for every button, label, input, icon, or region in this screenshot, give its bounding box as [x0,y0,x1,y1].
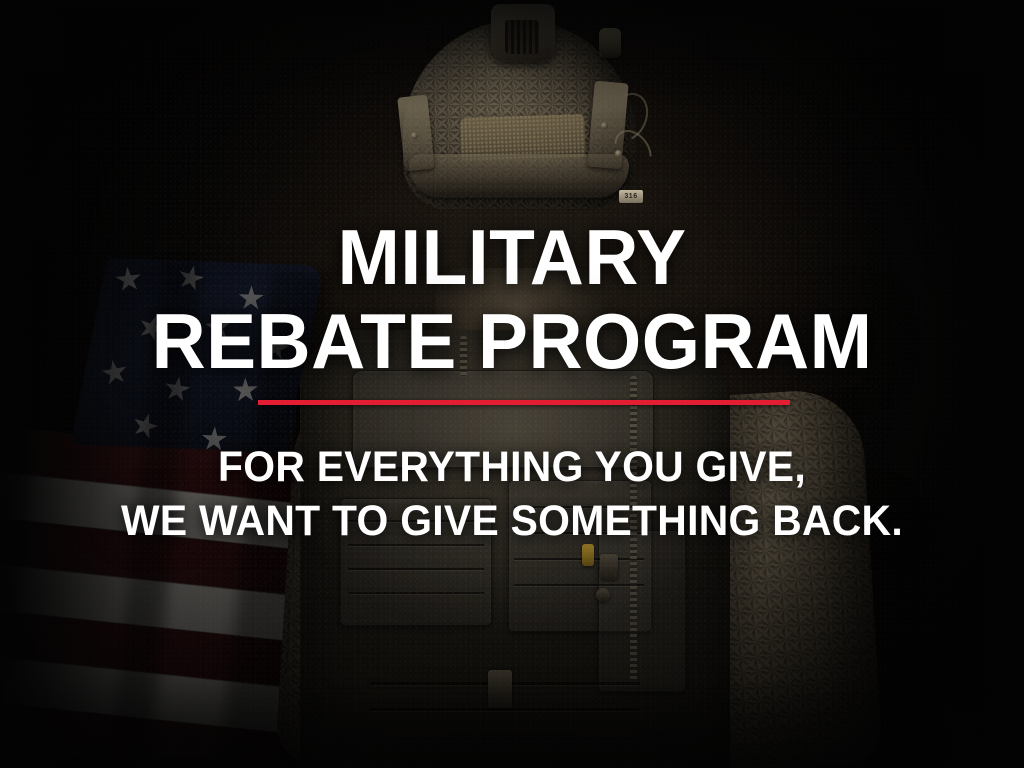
text-overlay: MILITARY REBATE PROGRAM FOR EVERYTHING Y… [0,0,1024,768]
headline-line-1: MILITARY [20,218,1003,296]
subheadline-line-2: WE WANT TO GIVE SOMETHING BACK. [26,500,999,543]
military-rebate-program-poster: 316 MILITARY REBATE PROGRAM FOR EVERYTHI… [0,0,1024,768]
accent-divider-rule [258,400,790,405]
headline-line-2: REBATE PROGRAM [20,302,1003,380]
subheadline-line-1: FOR EVERYTHING YOU GIVE, [26,446,999,489]
